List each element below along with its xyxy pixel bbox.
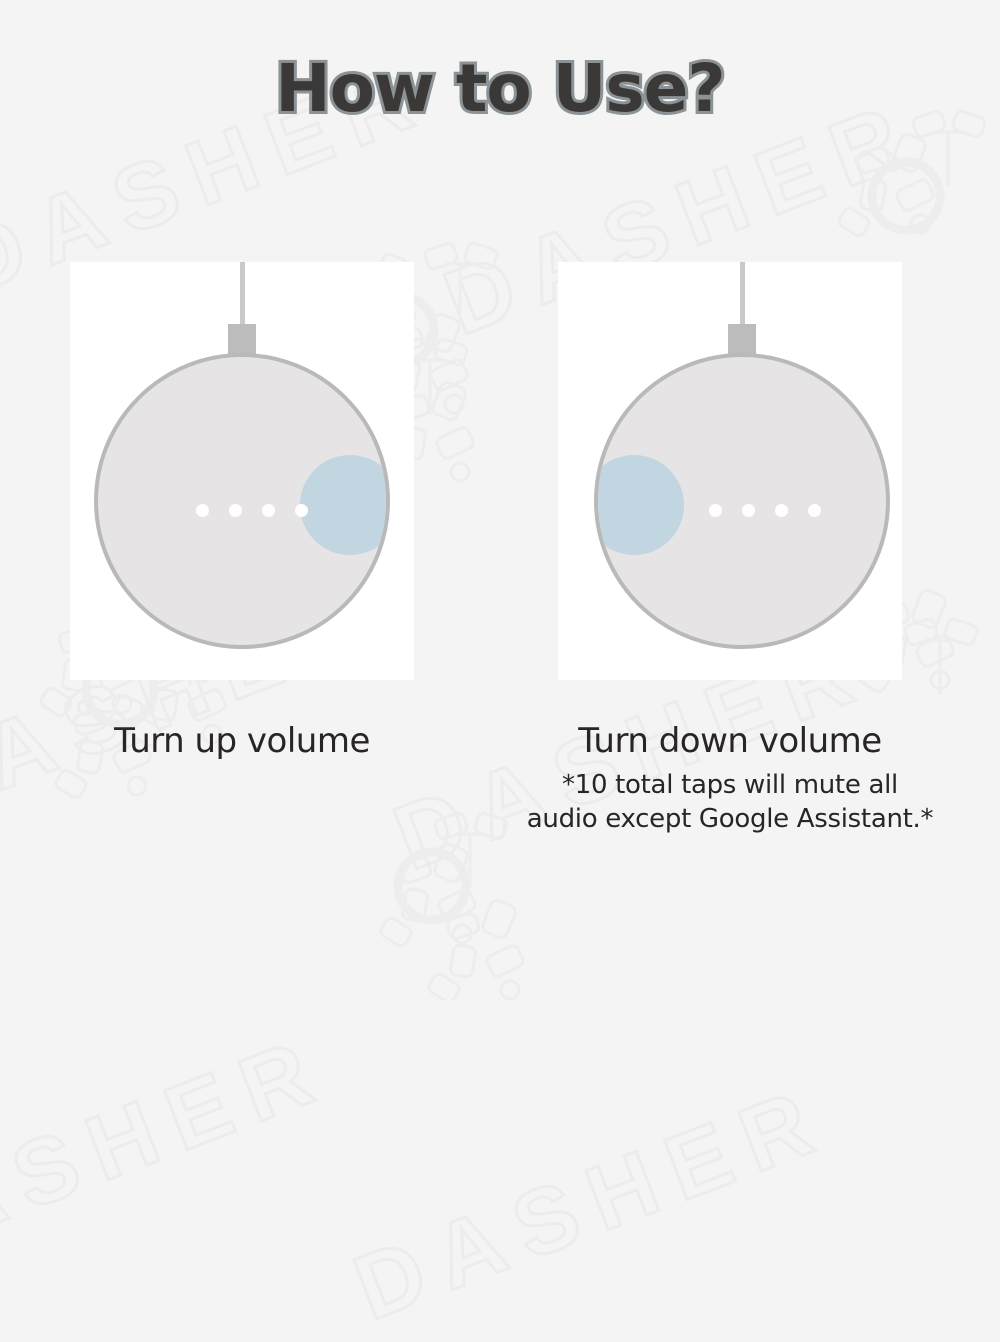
caption-turn-down: Turn down volume *10 total taps will mut…	[518, 722, 942, 837]
led-dot	[808, 504, 821, 517]
caption-turn-down-note: *10 total taps will mute all audio excep…	[518, 769, 942, 837]
watermark-text: DASHER	[0, 1016, 342, 1292]
device-illustration-turn-up	[70, 262, 414, 692]
power-cable	[740, 262, 745, 332]
caption-turn-up-label: Turn up volume	[50, 722, 434, 761]
power-cable	[240, 262, 245, 332]
led-dot	[742, 504, 755, 517]
tap-zone-highlight-right[interactable]	[300, 455, 390, 555]
led-dot	[262, 504, 275, 517]
led-dot	[295, 504, 308, 517]
caption-turn-down-label: Turn down volume	[518, 722, 942, 761]
caption-note-line-2: audio except Google Assistant.*	[518, 803, 942, 837]
led-dot	[775, 504, 788, 517]
led-indicator-dots	[709, 504, 821, 517]
led-dot	[709, 504, 722, 517]
speaker-body	[94, 353, 390, 649]
led-dot	[229, 504, 242, 517]
caption-note-line-1: *10 total taps will mute all	[518, 769, 942, 803]
speaker-body	[594, 353, 890, 649]
watermark-text: DASHER	[341, 1066, 842, 1342]
device-illustration-turn-down	[558, 262, 902, 692]
tap-zone-highlight-left[interactable]	[594, 455, 684, 555]
page-title: How to Use?	[0, 50, 1000, 127]
led-indicator-dots	[196, 504, 308, 517]
led-dot	[196, 504, 209, 517]
caption-turn-up: Turn up volume	[50, 722, 434, 761]
